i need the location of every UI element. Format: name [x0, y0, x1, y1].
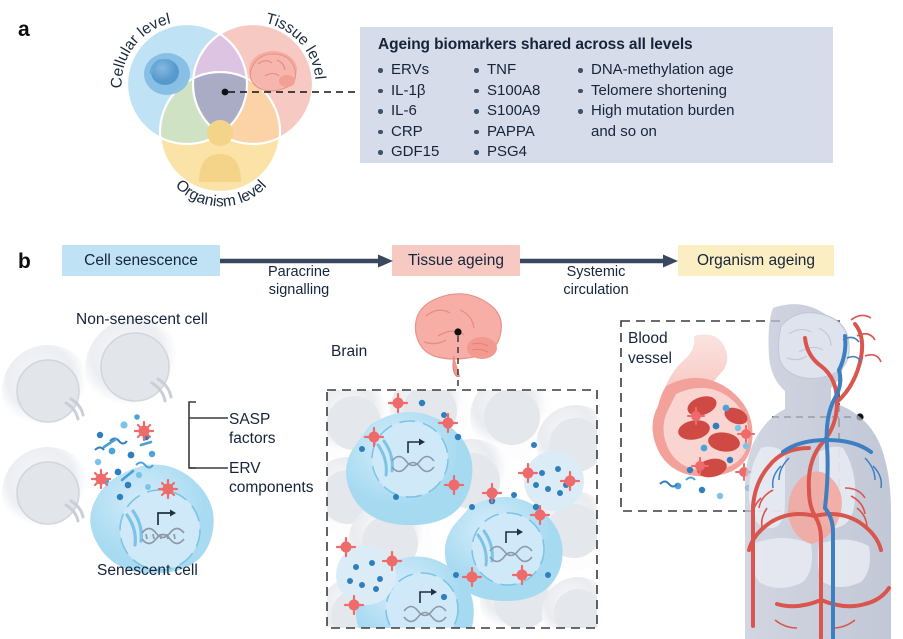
- list-item: TNF: [474, 60, 540, 81]
- arrow-label-line-1: Paracrine: [234, 263, 364, 281]
- list-item: High mutation burden: [578, 101, 734, 122]
- flow-stage-organism-ageing: Organism ageing: [678, 245, 834, 276]
- flow-stage-label: Tissue ageing: [408, 252, 504, 270]
- list-item: IL-1β: [378, 81, 439, 102]
- label-line-2: vessel: [628, 349, 672, 369]
- biomarker-column-1: ERVs IL-1β IL-6 CRP GDF15: [378, 60, 439, 163]
- label-erv-components: ERV components: [229, 459, 313, 497]
- list-item: GDF15: [378, 142, 439, 163]
- non-senescent-cell: [85, 319, 185, 419]
- list-item: S100A9: [474, 101, 540, 122]
- biomarker-column-2: TNF S100A8 S100A9 PAPPA PSG4: [474, 60, 540, 163]
- label-brain: Brain: [331, 342, 367, 361]
- list-item: IL-6: [378, 101, 439, 122]
- label-line-2: factors: [229, 429, 276, 448]
- label-line-1: Blood: [628, 329, 672, 349]
- label-non-senescent-cell: Non-senescent cell: [76, 310, 208, 329]
- list-item: PAPPA: [474, 122, 540, 143]
- list-item: DNA-methylation age: [578, 60, 734, 81]
- label-line-1: ERV: [229, 459, 313, 478]
- arrow-label-line-2: signalling: [234, 281, 364, 299]
- list-item: PSG4: [474, 142, 540, 163]
- list-item: CRP: [378, 122, 439, 143]
- flow-stage-label: Organism ageing: [697, 252, 815, 270]
- panel-a-letter: a: [18, 18, 30, 42]
- venn-diagram: Cellular level Tissue level Organism lev…: [95, 12, 345, 187]
- human-body-illustration: [715, 300, 903, 639]
- label-senescent-cell: Senescent cell: [97, 561, 198, 580]
- brain-to-tissue-connector: [452, 328, 464, 390]
- arrow-label-line-1: Systemic: [526, 263, 666, 281]
- label-line-2: components: [229, 478, 313, 497]
- biomarker-title: Ageing biomarkers shared across all leve…: [378, 36, 693, 54]
- flow-stage-tissue-ageing: Tissue ageing: [392, 245, 520, 276]
- flow-stage-cell-senescence: Cell senescence: [62, 245, 220, 276]
- arrow-label-paracrine: Paracrine signalling: [234, 263, 364, 299]
- arrow-label-systemic: Systemic circulation: [526, 263, 666, 299]
- label-blood-vessel: Blood vessel: [628, 329, 672, 369]
- non-senescent-cell: [2, 345, 94, 437]
- flow-stage-label: Cell senescence: [84, 252, 198, 270]
- cell-icon: [144, 53, 190, 95]
- sasp-bracket: [186, 400, 234, 475]
- list-item: S100A8: [474, 81, 540, 102]
- list-item: Telomere shortening: [578, 81, 734, 102]
- panel-b-letter: b: [18, 250, 31, 274]
- biomarker-box: Ageing biomarkers shared across all leve…: [360, 27, 833, 163]
- non-senescent-cell: [2, 447, 94, 539]
- list-item-continuation: and so on: [578, 122, 734, 143]
- arrow-label-line-2: circulation: [526, 281, 666, 299]
- tissue-ageing-box: [326, 389, 598, 629]
- venn-to-biomarker-connector: [222, 87, 362, 89]
- biomarker-column-3: DNA-methylation age Telomere shortening …: [578, 60, 734, 142]
- brain-icon: [249, 51, 297, 91]
- label-sasp-factors: SASP factors: [229, 410, 276, 448]
- label-line-1: SASP: [229, 410, 276, 429]
- list-item: ERVs: [378, 60, 439, 81]
